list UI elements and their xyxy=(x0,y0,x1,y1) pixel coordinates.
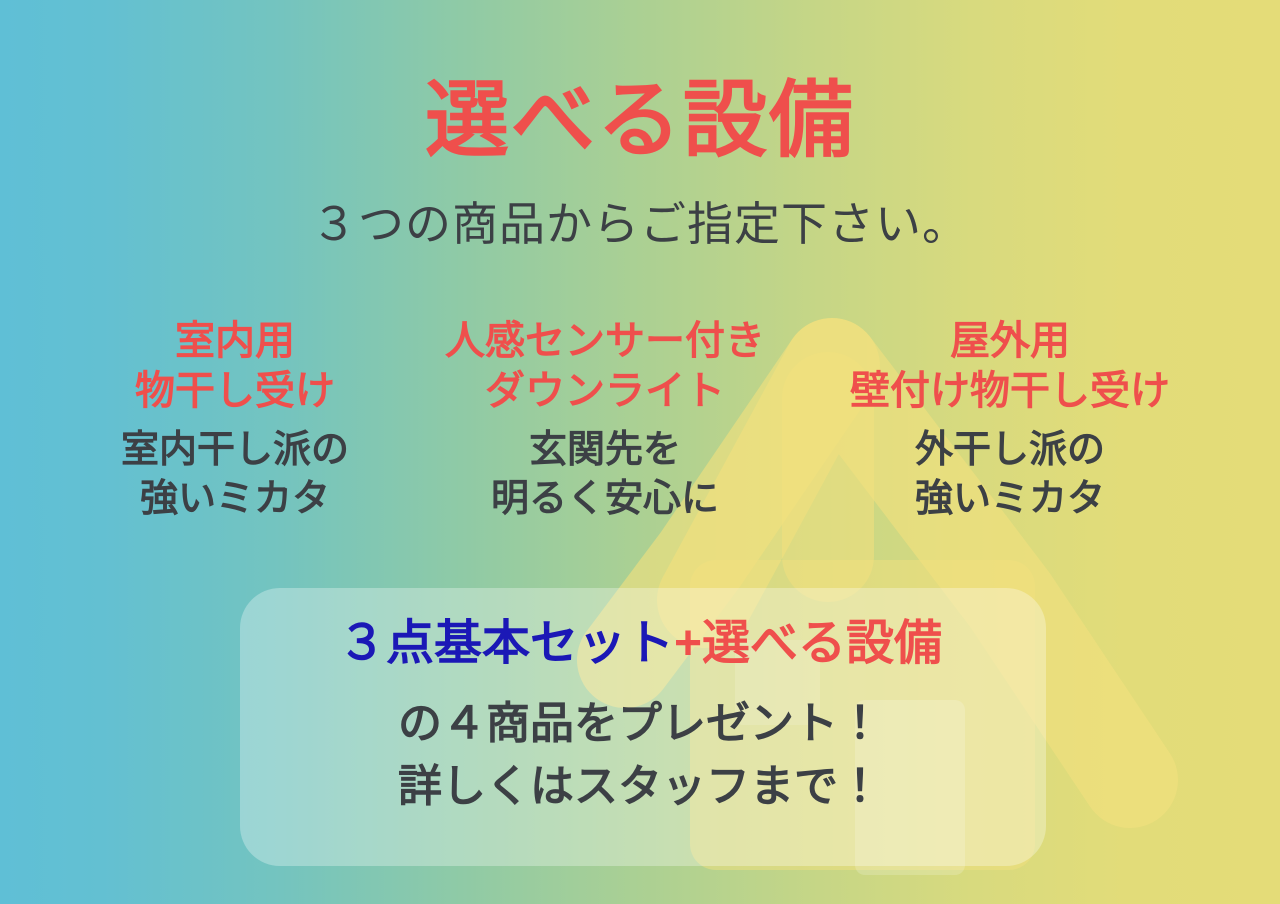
option-description: 玄関先を 明るく安心に xyxy=(410,426,800,523)
promo-poster: 選べる設備 ３つの商品からご指定下さい。 室内用 物干し受け 室内干し派の 強い… xyxy=(0,0,1280,904)
options-row: 室内用 物干し受け 室内干し派の 強いミカタ 人感センサー付き ダウンライト 玄… xyxy=(0,316,1280,523)
option-description-line2: 強いミカタ xyxy=(60,475,410,524)
option-card-downlight[interactable]: 人感センサー付き ダウンライト 玄関先を 明るく安心に xyxy=(410,316,800,523)
option-heading-line1: 屋外用 xyxy=(800,316,1220,366)
option-description-line2: 明るく安心に xyxy=(410,475,800,524)
option-description-line1: 室内干し派の xyxy=(60,426,410,475)
option-description-line2: 強いミカタ xyxy=(800,475,1220,524)
offer-detail-line-1: の４商品をプレゼント！ xyxy=(0,702,1280,746)
option-heading: 屋外用 壁付け物干し受け xyxy=(800,316,1220,416)
offer-detail-line-2: 詳しくはスタッフまで！ xyxy=(0,765,1280,809)
option-heading-line2: 壁付け物干し受け xyxy=(800,366,1220,416)
option-description-line1: 外干し派の xyxy=(800,426,1220,475)
option-heading-line2: 物干し受け xyxy=(60,366,410,416)
option-heading: 室内用 物干し受け xyxy=(60,316,410,416)
option-description: 室内干し派の 強いミカタ xyxy=(60,426,410,523)
option-description: 外干し派の 強いミカタ xyxy=(800,426,1220,523)
offer-plus-label: +選べる設備 xyxy=(674,617,942,670)
offer-set-label: ３点基本セット xyxy=(338,617,674,670)
option-description-line1: 玄関先を xyxy=(410,426,800,475)
option-card-outdoor[interactable]: 屋外用 壁付け物干し受け 外干し派の 強いミカタ xyxy=(800,316,1220,523)
option-card-indoor[interactable]: 室内用 物干し受け 室内干し派の 強いミカタ xyxy=(60,316,410,523)
page-title: 選べる設備 xyxy=(0,78,1280,162)
option-heading-line1: 室内用 xyxy=(60,316,410,366)
option-heading: 人感センサー付き ダウンライト xyxy=(410,316,800,416)
offer-headline: ３点基本セット+選べる設備 xyxy=(0,620,1280,668)
option-heading-line2: ダウンライト xyxy=(410,366,800,416)
page-subtitle: ３つの商品からご指定下さい。 xyxy=(0,201,1280,247)
option-heading-line1: 人感センサー付き xyxy=(410,316,800,366)
